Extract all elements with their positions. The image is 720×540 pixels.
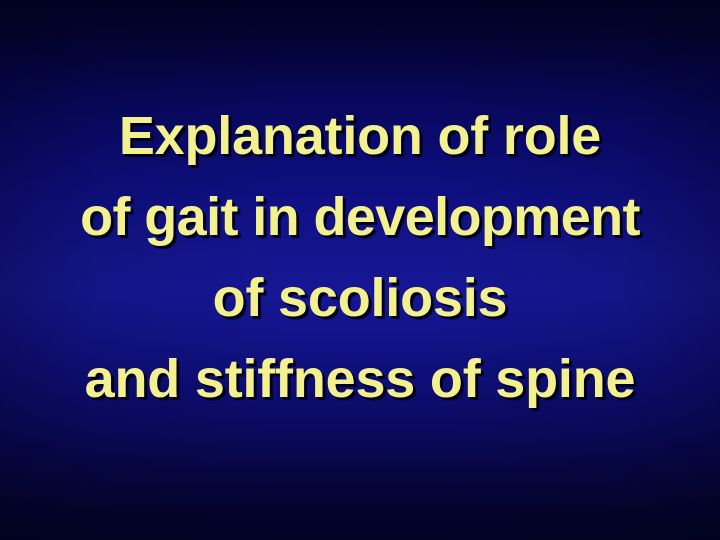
title-line-2: of gait in development [0, 177, 720, 258]
title-line-3: of scoliosis [0, 258, 720, 339]
presentation-slide: Explanation of role of gait in developme… [0, 0, 720, 540]
title-line-4: and stiffness of spine [0, 339, 720, 420]
title-line-1: Explanation of role [0, 96, 720, 177]
slide-title: Explanation of role of gait in developme… [0, 96, 720, 420]
